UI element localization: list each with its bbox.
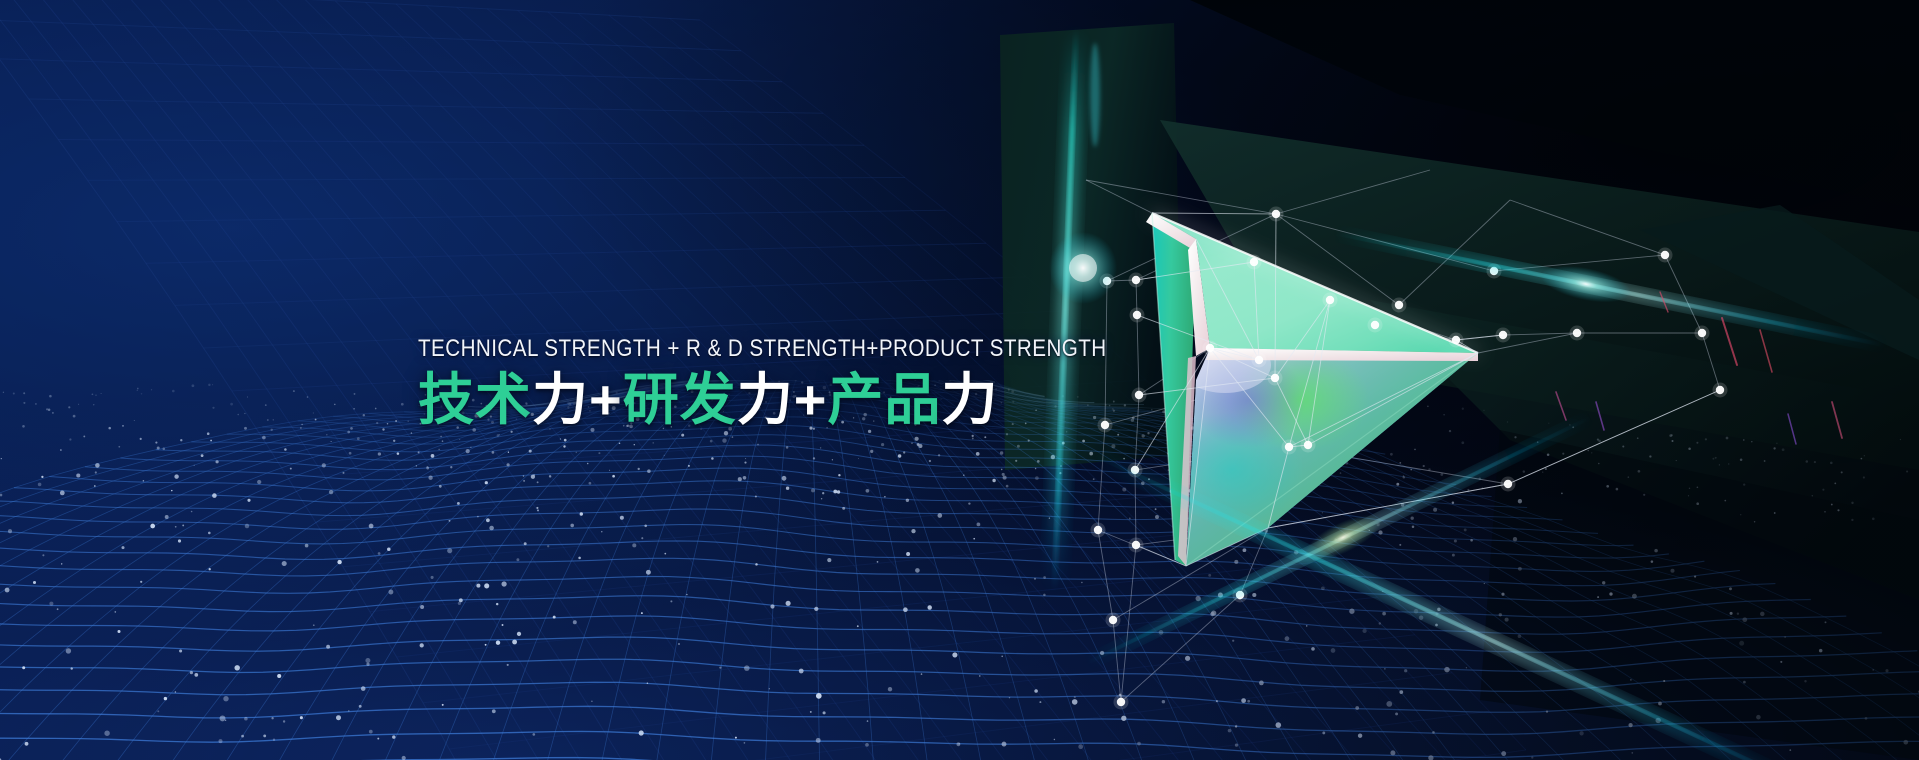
- hero-banner: TECHNICAL STRENGTH + R & D STRENGTH+PROD…: [0, 0, 1919, 760]
- diagonal-light-beam-green: [1080, 403, 1596, 675]
- vertical-light-beam: [1049, 30, 1117, 590]
- title-segment-1: 力+: [532, 368, 623, 431]
- title-segment-0: 技术: [418, 368, 532, 431]
- hero-copy: TECHNICAL STRENGTH + R & D STRENGTH+PROD…: [418, 336, 1038, 432]
- title-segment-5: 力: [941, 368, 998, 431]
- title-segment-3: 力+: [737, 368, 828, 431]
- title-segment-2: 研发: [623, 368, 737, 431]
- accent-micro-streaks: [1556, 292, 1842, 444]
- diagonal-light-beam-upper: [1333, 218, 1888, 361]
- hero-subtitle-english: TECHNICAL STRENGTH + R & D STRENGTH+PROD…: [418, 336, 951, 362]
- title-segment-4: 产品: [827, 368, 941, 431]
- hero-title-chinese: 技术力+研发力+产品力: [418, 369, 1038, 432]
- beam-glint-top: [1090, 43, 1100, 147]
